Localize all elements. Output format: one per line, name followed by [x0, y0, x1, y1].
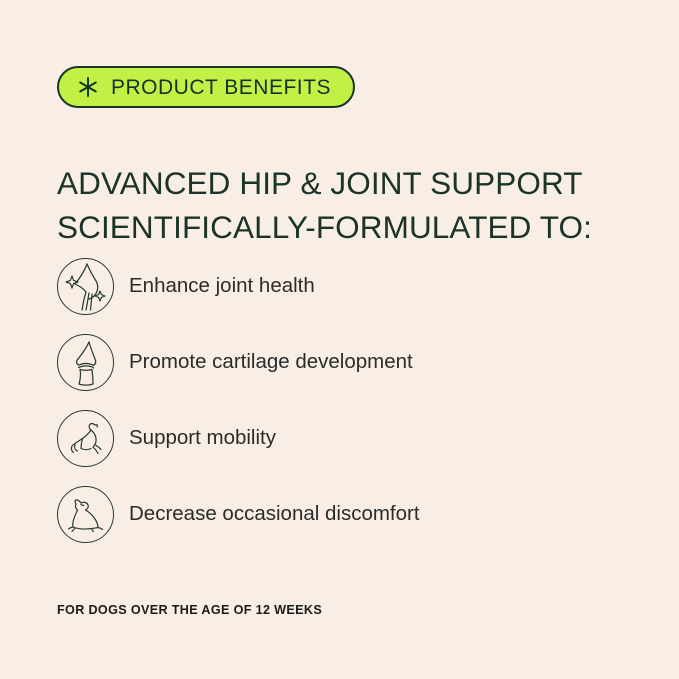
list-item-label: Enhance joint health — [129, 274, 315, 299]
footer-note: FOR DOGS OVER THE AGE OF 12 WEEKS — [57, 603, 322, 617]
page-title: ADVANCED HIP & JOINT SUPPORT SCIENTIFICA… — [57, 161, 637, 249]
list-item-label: Support mobility — [129, 426, 276, 451]
heading-line-1: ADVANCED HIP & JOINT SUPPORT — [57, 161, 637, 205]
product-benefits-panel: PRODUCT BENEFITS ADVANCED HIP & JOINT SU… — [0, 0, 679, 679]
list-item-label: Promote cartilage development — [129, 350, 413, 375]
list-item: Enhance joint health — [57, 258, 617, 315]
product-benefits-badge: PRODUCT BENEFITS — [57, 66, 355, 108]
sparkling-joint-icon — [57, 258, 114, 315]
benefits-list: Enhance joint health Prom — [57, 258, 617, 562]
list-item-label: Decrease occasional discomfort — [129, 502, 420, 527]
leaping-dog-icon — [57, 410, 114, 467]
knee-cartilage-icon — [57, 334, 114, 391]
asterisk-icon — [77, 76, 99, 98]
heading-line-2: SCIENTIFICALLY-FORMULATED TO: — [57, 205, 637, 249]
badge-label: PRODUCT BENEFITS — [111, 77, 331, 98]
list-item: Decrease occasional discomfort — [57, 486, 617, 543]
list-item: Promote cartilage development — [57, 334, 617, 391]
resting-dog-icon — [57, 486, 114, 543]
list-item: Support mobility — [57, 410, 617, 467]
